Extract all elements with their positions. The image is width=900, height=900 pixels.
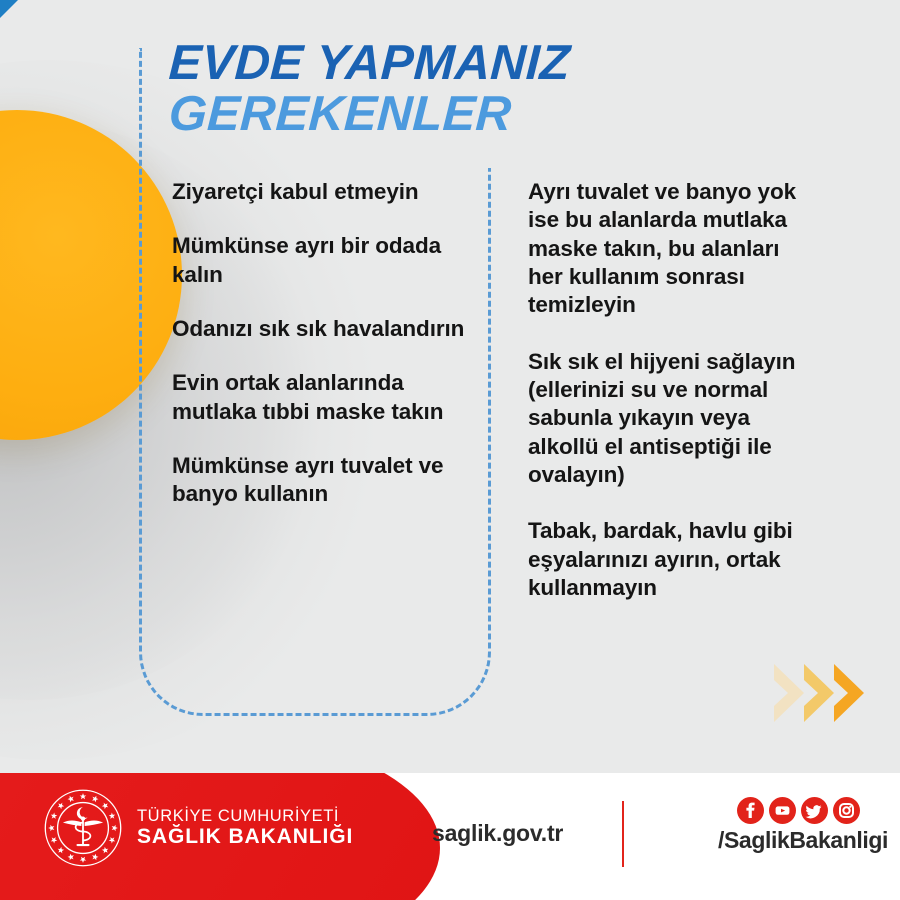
- ministry-logo: TÜRKİYE CUMHURİYETİ SAĞLIK BAKANLIĞI: [42, 787, 353, 869]
- title-line-2: GEREKENLER: [168, 91, 790, 138]
- tip-item: Ziyaretçi kabul etmeyin: [172, 178, 472, 206]
- instagram-icon[interactable]: [833, 797, 860, 824]
- tip-item: Tabak, bardak, havlu gibi eşyalarınızı a…: [528, 517, 820, 602]
- turkey-health-emblem-icon: [42, 787, 124, 869]
- social-handle[interactable]: /SaglikBakanligi: [718, 827, 878, 854]
- facebook-icon[interactable]: [737, 797, 764, 824]
- tips-column-right: Ayrı tuvalet ve banyo yok ise bu alanlar…: [528, 178, 820, 630]
- tip-item: Sık sık el hijyeni sağlayın (ellerinizi …: [528, 348, 820, 490]
- corner-accent-triangle: [0, 0, 18, 18]
- tip-item: Ayrı tuvalet ve banyo yok ise bu alanlar…: [528, 178, 820, 320]
- tip-item: Evin ortak alanlarında mutlaka tıbbi mas…: [172, 369, 472, 426]
- tip-item: Odanızı sık sık havalandırın: [172, 315, 472, 343]
- tip-item: Mümkünse ayrı tuvalet ve banyo kullanın: [172, 452, 472, 509]
- footer-bar: TÜRKİYE CUMHURİYETİ SAĞLIK BAKANLIĞI sag…: [0, 773, 900, 900]
- ministry-name: TÜRKİYE CUMHURİYETİ SAĞLIK BAKANLIĞI: [137, 808, 353, 848]
- website-url[interactable]: saglik.gov.tr: [432, 820, 563, 847]
- ministry-line-2: SAĞLIK BAKANLIĞI: [137, 826, 353, 849]
- title-line-1: EVDE YAPMANIZ: [168, 40, 790, 87]
- chevron-arrows-decoration: [770, 662, 880, 724]
- tip-item: Mümkünse ayrı bir odada kalın: [172, 232, 472, 289]
- poster-root: EVDE YAPMANIZ GEREKENLER Ziyaretçi kabul…: [0, 0, 900, 900]
- social-block: /SaglikBakanligi: [718, 797, 878, 854]
- social-icons-row: [718, 797, 878, 824]
- ministry-line-1: TÜRKİYE CUMHURİYETİ: [137, 808, 353, 826]
- tips-column-left: Ziyaretçi kabul etmeyin Mümkünse ayrı bi…: [172, 178, 472, 535]
- twitter-icon[interactable]: [801, 797, 828, 824]
- youtube-icon[interactable]: [769, 797, 796, 824]
- chevron-icon-3: [830, 662, 870, 724]
- page-title: EVDE YAPMANIZ GEREKENLER: [169, 40, 789, 137]
- footer-divider: [622, 801, 624, 867]
